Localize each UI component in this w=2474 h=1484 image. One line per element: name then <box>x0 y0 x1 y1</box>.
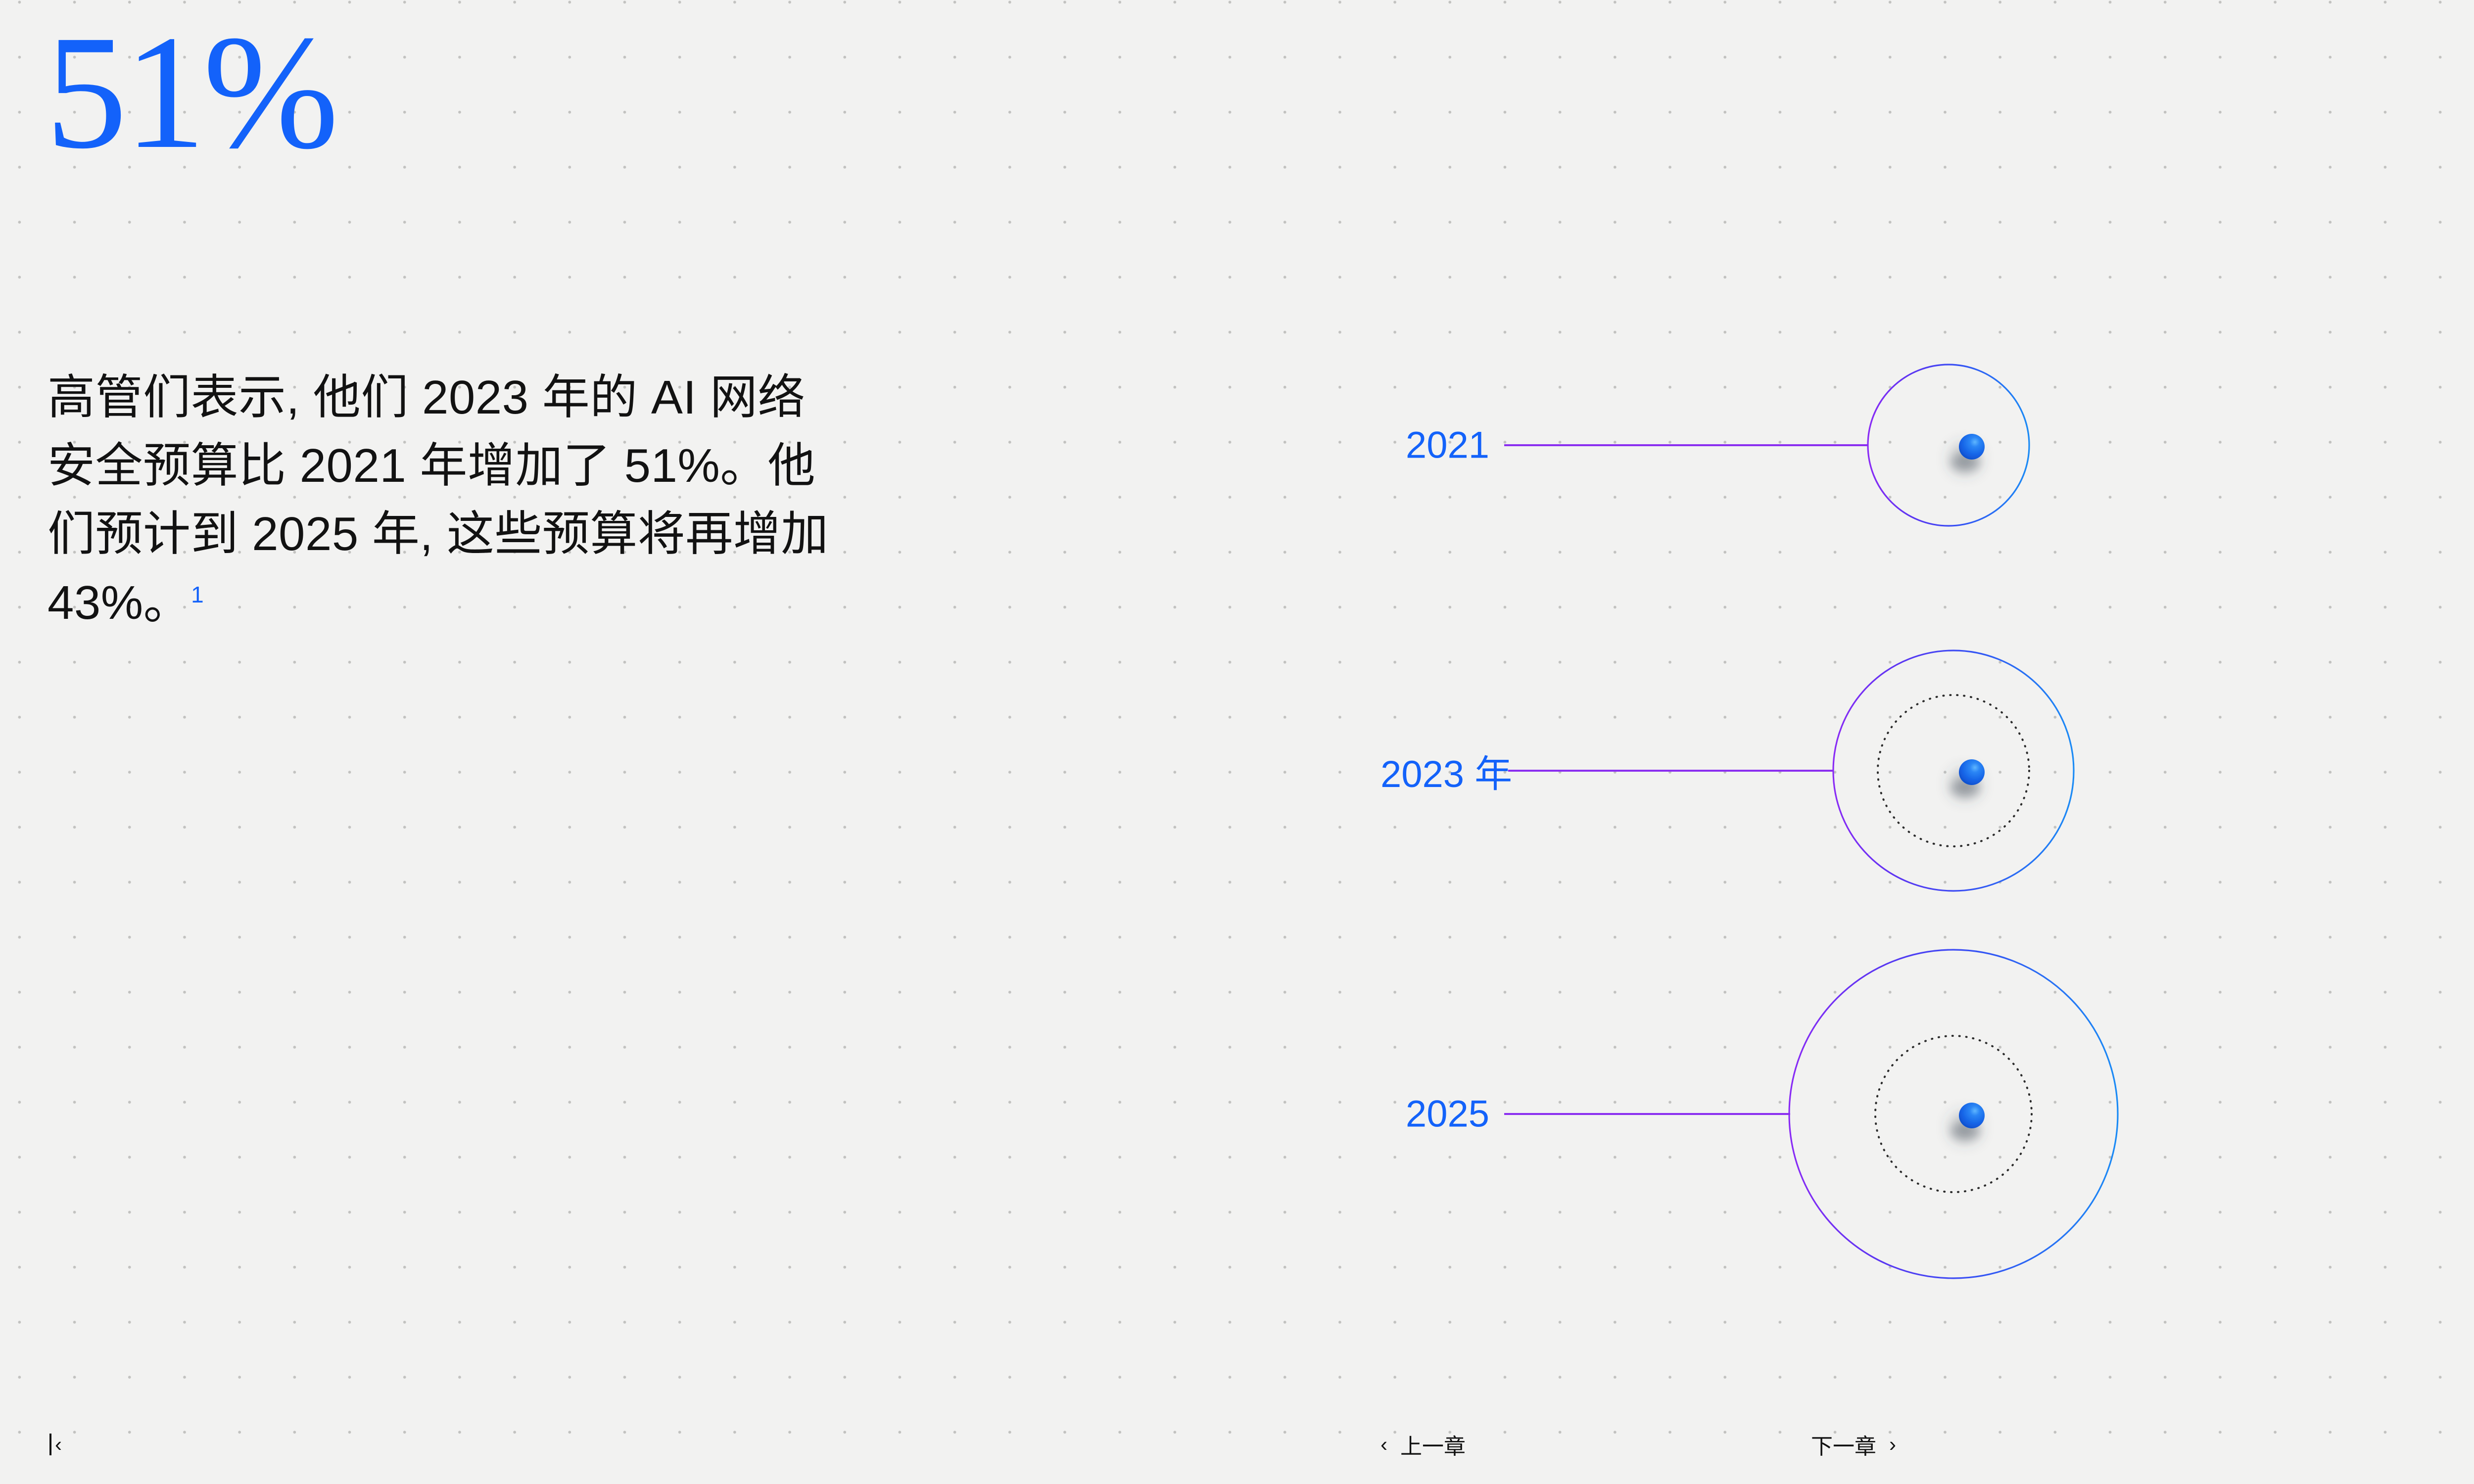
ring-inner-dotted-2025 <box>1875 1036 2032 1192</box>
ring-outline-2023 <box>1833 650 2074 891</box>
chevron-right-icon: › <box>1889 1434 1896 1455</box>
skip-to-first-icon: ‹ <box>49 1434 62 1455</box>
go-to-first-page-button[interactable]: ‹ <box>49 1434 75 1455</box>
next-chapter-label: 下一章 <box>1811 1429 1876 1460</box>
ring-outline-2025 <box>1789 950 2118 1278</box>
ring-outline-2021 <box>1868 365 2029 526</box>
footer-navigation-bar: ‹ ‹ 上一章 下一章 › 8 <box>0 1405 2474 1484</box>
data-sphere-2023 <box>1959 759 1985 785</box>
data-sphere-2025 <box>1959 1103 1985 1128</box>
ring-group-2021 <box>1504 365 2029 526</box>
data-sphere-2021 <box>1959 434 1985 460</box>
previous-chapter-label: 上一章 <box>1400 1429 1466 1460</box>
chevron-left-icon: ‹ <box>1380 1434 1387 1455</box>
ring-group-2023 <box>1508 650 2074 891</box>
next-chapter-button[interactable]: 下一章 › <box>1811 1429 1896 1460</box>
ring-inner-dotted-2023 <box>1878 695 2029 846</box>
ring-label-2021: 2021 <box>1380 424 1489 467</box>
budget-growth-diagram <box>0 0 2474 1484</box>
previous-chapter-button[interactable]: ‹ 上一章 <box>1380 1429 1466 1460</box>
ring-label-2025: 2025 <box>1380 1093 1489 1136</box>
ring-group-2025 <box>1504 950 2118 1278</box>
ring-label-2023: 2023 年 <box>1380 743 1508 798</box>
